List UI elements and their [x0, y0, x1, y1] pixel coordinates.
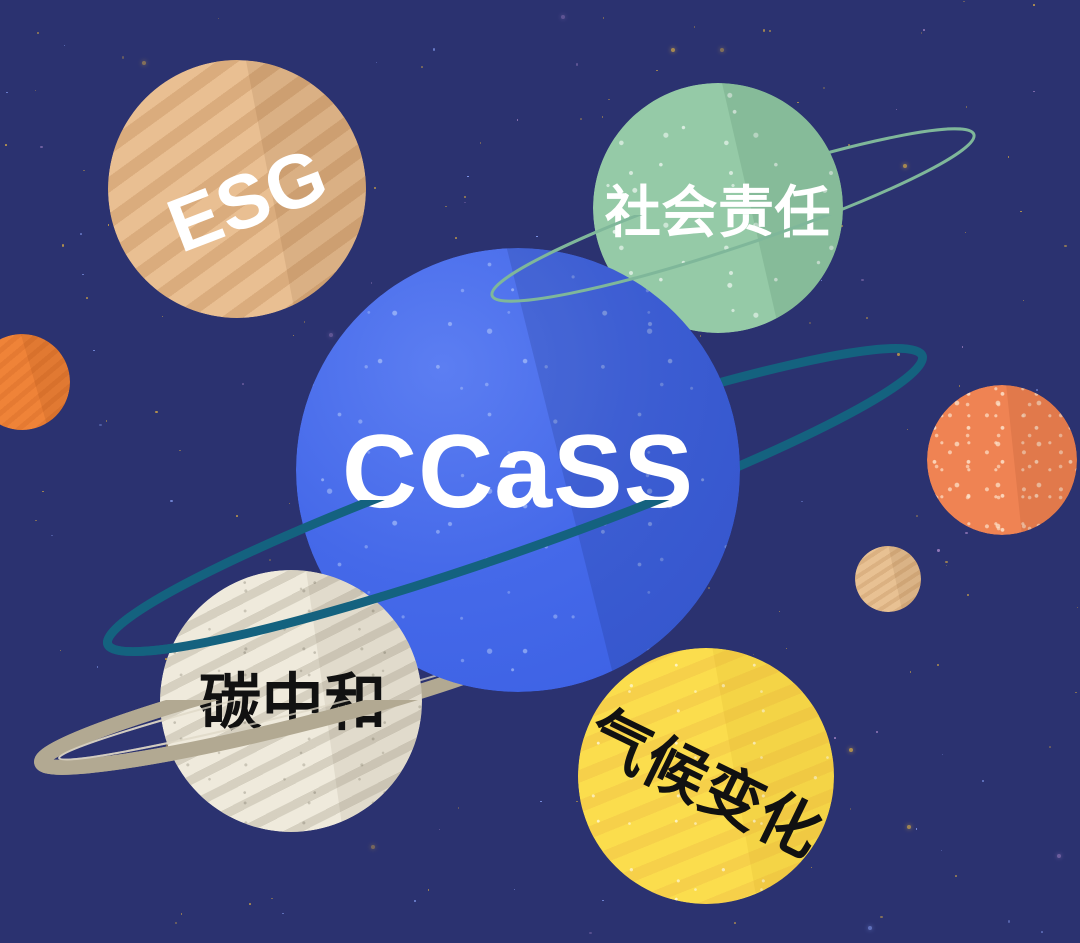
- orange-planet-right: [927, 385, 1077, 535]
- orange-planet-left: [0, 334, 70, 430]
- carbon-neutrality-planet-label: 碳中和: [162, 570, 422, 828]
- carbon-neutrality-planet: 碳中和: [160, 570, 422, 832]
- illustration-canvas: ESG 社会责任 CCaSS 碳中和 气候变化: [0, 0, 1080, 943]
- tan-planet-small: [855, 546, 921, 612]
- climate-change-planet: 气候变化: [578, 648, 834, 904]
- climate-change-planet-label: 气候变化: [578, 648, 834, 904]
